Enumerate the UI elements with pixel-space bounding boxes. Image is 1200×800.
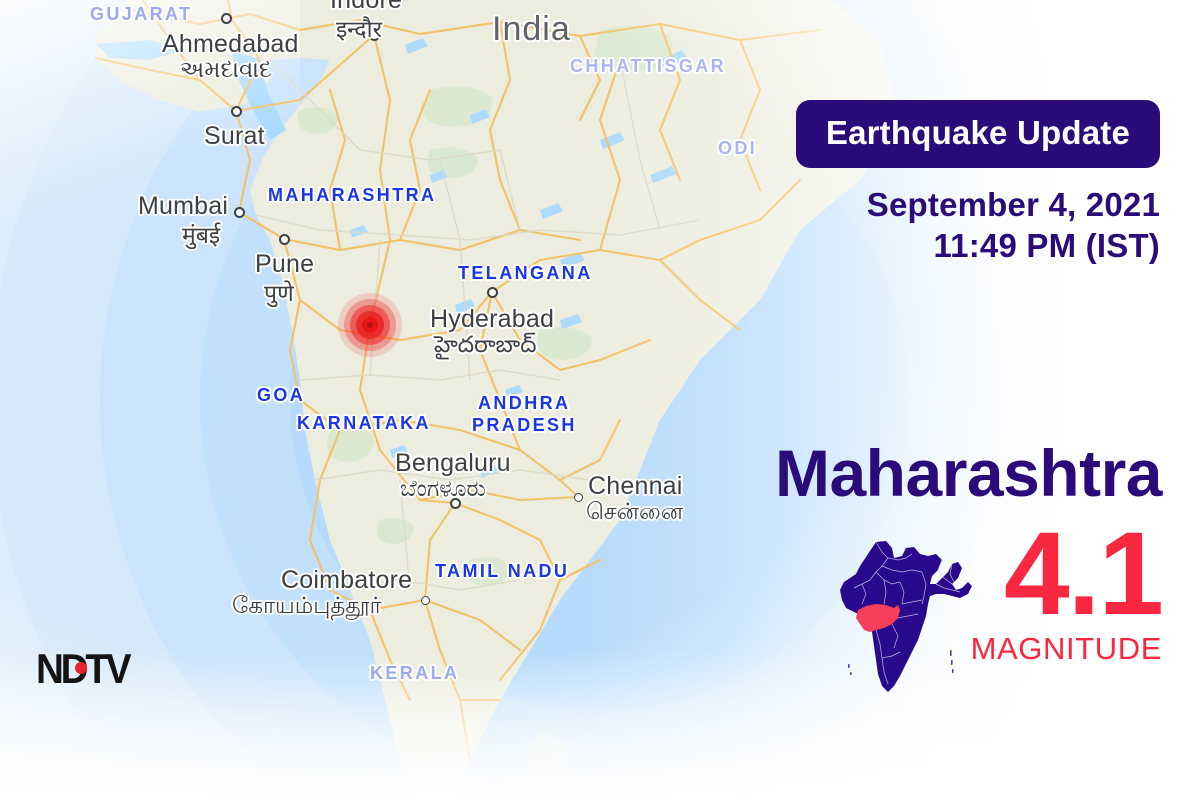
affected-state-name: Maharashtra <box>732 440 1162 506</box>
event-time: 11:49 PM (IST) <box>760 226 1160 267</box>
epicenter-marker <box>335 290 405 360</box>
india-inset-svg <box>832 532 982 697</box>
epicenter-core <box>367 322 373 328</box>
earthquake-update-badge: Earthquake Update <box>796 100 1160 168</box>
ndtv-logo: NDTV <box>36 650 136 688</box>
datetime-block: September 4, 2021 11:49 PM (IST) <box>760 185 1160 267</box>
india-inset-map <box>832 532 982 697</box>
india-inset-states <box>840 541 972 692</box>
ndtv-red-dot-icon <box>75 662 87 674</box>
event-date: September 4, 2021 <box>760 185 1160 226</box>
earthquake-update-graphic: India GUJARAT MAHARASHTRA CHHATTISGAR OD… <box>0 0 1200 800</box>
